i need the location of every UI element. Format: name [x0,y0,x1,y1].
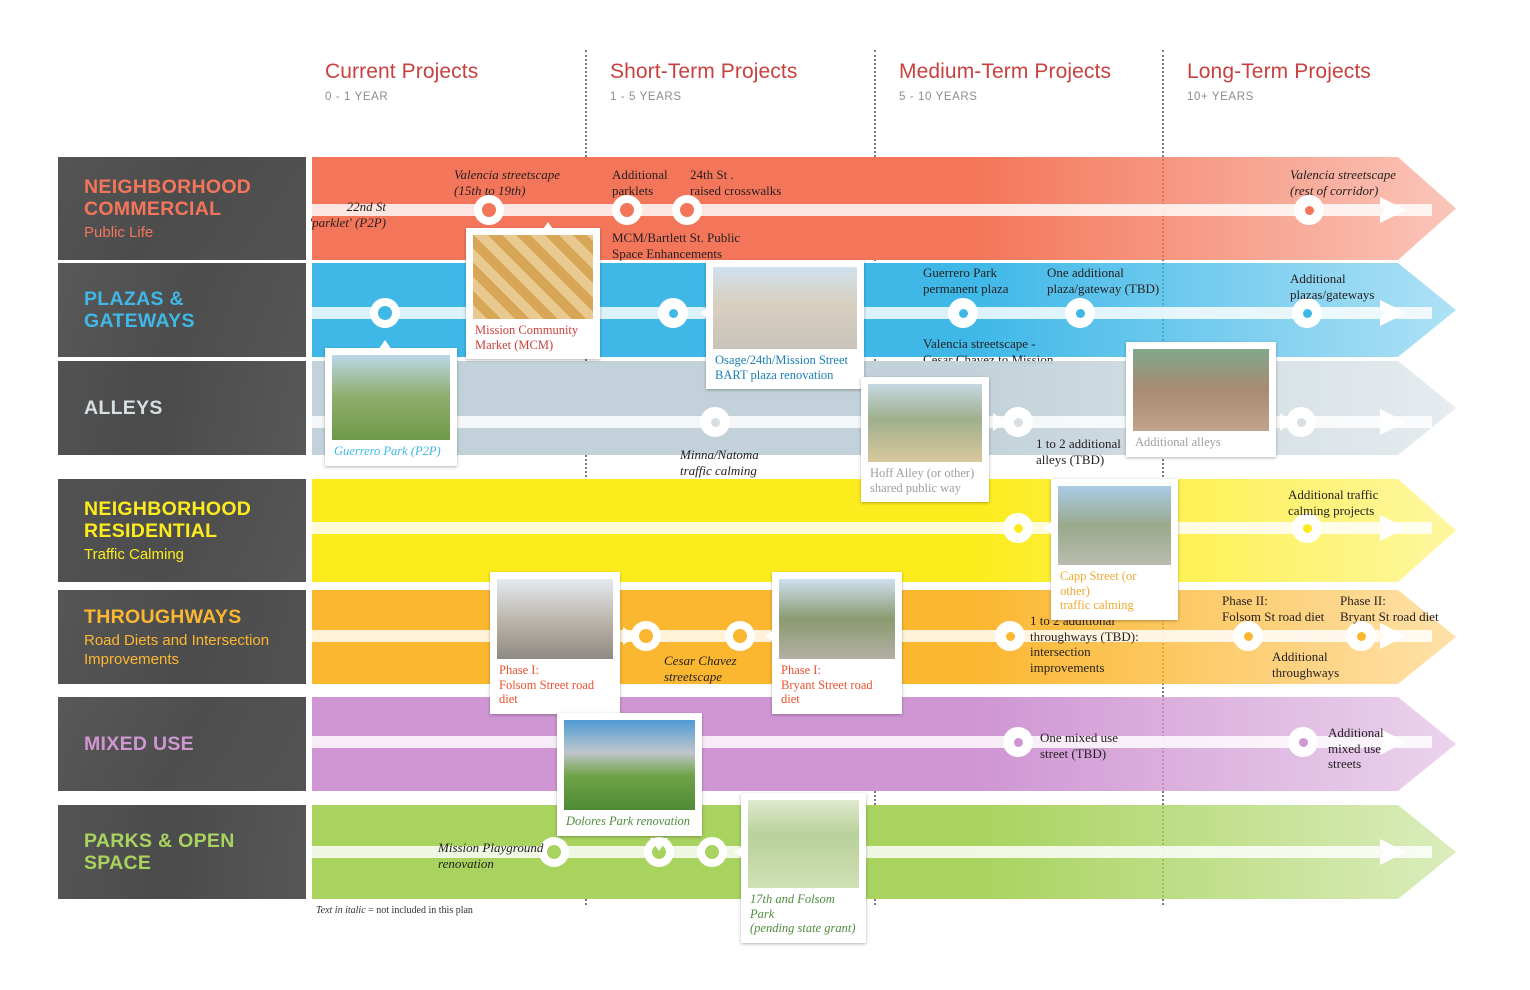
node-hole [733,629,747,643]
node-core [1076,309,1085,318]
timeline-node[interactable] [612,195,642,225]
callout-tail [700,304,713,322]
category-subtitle: Public Life [84,223,298,242]
callout-caption: Capp Street (or other) traffic calming [1058,565,1171,616]
column-header-3: Medium-Term Projects5 - 10 YEARS [899,60,1111,103]
callout-caption: Guerrero Park (P2P) [332,440,450,462]
callout-tail [734,843,747,861]
timeline-node[interactable] [1288,727,1318,757]
column-subtitle: 5 - 10 YEARS [899,91,1111,103]
callout-tail [376,340,394,353]
band-label: Minna/Natoma traffic calming [680,447,820,478]
band-label: MCM/Bartlett St. Public Space Enhancemen… [612,230,802,261]
category-card-neighborhood-residential: NEIGHBORHOOD RESIDENTIALTraffic Calming [58,479,306,582]
timeline-node[interactable] [672,195,702,225]
timeline-node[interactable] [1346,621,1376,651]
callout-tail [993,413,1006,431]
timeline-node[interactable] [1292,298,1322,328]
category-card-alleys: ALLEYS [58,361,306,455]
footnote-text: = not included in this plan [366,905,473,916]
category-text: PLAZAS & GATEWAYS [84,288,298,332]
category-name: NEIGHBORHOOD RESIDENTIAL [84,498,298,542]
node-core [1014,418,1023,427]
callout-card-guerrero-park[interactable]: Guerrero Park (P2P) [325,348,457,466]
band-label: Additional throughways [1272,649,1392,680]
callout-photo [779,579,895,659]
band-label: Additional mixed use streets [1328,725,1438,772]
category-text: NEIGHBORHOOD COMMERCIALPublic Life [84,176,298,242]
callout-photo [868,384,982,462]
callout-tail [623,627,636,645]
category-subtitle: Road Diets and Intersection Improvements [84,631,298,669]
category-text: NEIGHBORHOOD RESIDENTIALTraffic Calming [84,498,298,564]
node-core [1297,418,1306,427]
column-header-1: Current Projects0 - 1 YEAR [325,60,478,103]
footnote: Text in italic = not included in this pl… [316,905,473,916]
callout-card-additional-alleys[interactable]: Additional alleys [1126,342,1276,457]
callout-photo [564,720,695,810]
callout-photo [713,267,857,349]
column-header-4: Long-Term Projects10+ YEARS [1187,60,1371,103]
callout-caption: Mission Community Market (MCM) [473,319,593,355]
node-hole [482,203,496,217]
category-card-plazas-gateways: PLAZAS & GATEWAYS [58,263,306,357]
callout-caption: 17th and Folsom Park (pending state gran… [748,888,859,939]
category-text: PARKS & OPEN SPACE [84,830,298,874]
node-core [711,418,720,427]
category-card-mixed-use: MIXED USE [58,697,306,791]
category-name: NEIGHBORHOOD COMMERCIAL [84,176,298,220]
footnote-emphasis: Text in italic [316,905,366,916]
callout-caption: Osage/24th/Mission Street BART plaza ren… [713,349,857,385]
callout-card-17th-folsom-park[interactable]: 17th and Folsom Park (pending state gran… [741,793,866,943]
node-hole [620,203,634,217]
category-name: MIXED USE [84,733,298,755]
band-label: Additional plazas/gateways [1290,271,1430,302]
node-core [1357,632,1366,641]
band-label: Cesar Chavez streetscape [664,653,784,684]
category-card-parks-open-space: PARKS & OPEN SPACE [58,805,306,899]
node-core [1006,632,1015,641]
node-core [1305,206,1314,215]
category-name: PARKS & OPEN SPACE [84,830,298,874]
callout-card-hoff-alley[interactable]: Hoff Alley (or other) shared public way [861,377,989,502]
callout-card-osage-bart-plaza[interactable]: Osage/24th/Mission Street BART plaza ren… [706,260,864,389]
callout-caption: Additional alleys [1133,431,1269,453]
callout-card-dolores-park[interactable]: Dolores Park renovation [557,713,702,836]
node-hole [705,845,719,859]
category-name: THROUGHWAYS [84,606,298,628]
timeline-node[interactable] [370,298,400,328]
band-label: Mission Playground renovation [438,840,598,871]
callout-tail [650,838,668,851]
category-subtitle: Traffic Calming [84,545,298,564]
node-core [1299,738,1308,747]
node-hole [680,203,694,217]
category-name: PLAZAS & GATEWAYS [84,288,298,332]
timeline-node[interactable] [725,621,755,651]
timeline-node[interactable] [995,621,1025,651]
node-hole [378,306,392,320]
band-label: 22nd St 'parklet' (P2P) [286,199,386,230]
timeline-infographic: Current Projects0 - 1 YEARShort-Term Pro… [0,0,1530,990]
column-subtitle: 10+ YEARS [1187,91,1371,103]
category-text: ALLEYS [84,397,298,419]
callout-tail [539,222,557,235]
column-title: Short-Term Projects [610,60,797,84]
timeline-node[interactable] [1003,407,1033,437]
node-hole [639,629,653,643]
node-core [669,309,678,318]
column-title: Medium-Term Projects [899,60,1111,84]
callout-card-bryant-phase-1[interactable]: Phase I: Bryant Street road diet [772,572,902,714]
node-core [1014,524,1023,533]
callout-caption: Hoff Alley (or other) shared public way [868,462,982,498]
category-card-throughways: THROUGHWAYSRoad Diets and Intersection I… [58,590,306,684]
timeline-node[interactable] [658,298,688,328]
band-label: Phase II: Bryant St road diet [1340,593,1490,624]
node-core [1303,309,1312,318]
callout-photo [332,355,450,440]
column-title: Long-Term Projects [1187,60,1371,84]
callout-tail [765,627,778,645]
column-header-2: Short-Term Projects1 - 5 YEARS [610,60,797,103]
band-label: One additional plaza/gateway (TBD) [1047,265,1217,296]
callout-photo [473,235,593,319]
timeline-node[interactable] [1003,513,1033,543]
callout-photo [1133,349,1269,431]
column-subtitle: 0 - 1 YEAR [325,91,478,103]
callout-card-mission-community-market[interactable]: Mission Community Market (MCM) [466,228,600,359]
band-label: 24th St . raised crosswalks [690,167,830,198]
callout-card-folsom-phase-1[interactable]: Phase I: Folsom Street road diet [490,572,620,714]
timeline-node[interactable] [1233,621,1263,651]
timeline-node[interactable] [1294,195,1324,225]
node-core [1244,632,1253,641]
callout-caption: Phase I: Folsom Street road diet [497,659,613,710]
callout-photo [748,800,859,888]
node-core [1014,738,1023,747]
callout-caption: Dolores Park renovation [564,810,695,832]
band-label: Valencia streetscape (rest of corridor) [1290,167,1460,198]
category-text: THROUGHWAYSRoad Diets and Intersection I… [84,606,298,669]
node-core [959,309,968,318]
callout-caption: Phase I: Bryant Street road diet [779,659,895,710]
callout-photo [1058,486,1171,565]
band-label: 1 to 2 additional throughways (TBD): int… [1030,613,1180,675]
band-label: Additional parklets [612,167,692,198]
callout-photo [497,579,613,659]
timeline-node[interactable] [474,195,504,225]
column-subtitle: 1 - 5 YEARS [610,91,797,103]
timeline-node[interactable] [700,407,730,437]
timeline-node[interactable] [697,837,727,867]
node-core [1303,524,1312,533]
callout-tail [1280,413,1293,431]
timeline-node[interactable] [948,298,978,328]
callout-tail [1043,519,1056,537]
band-label: One mixed use street (TBD) [1040,730,1170,761]
timeline-node[interactable] [1003,727,1033,757]
callout-card-capp-street[interactable]: Capp Street (or other) traffic calming [1051,479,1178,620]
category-text: MIXED USE [84,733,298,755]
category-card-neighborhood-commercial: NEIGHBORHOOD COMMERCIALPublic Life [58,157,306,260]
band-label: Additional traffic calming projects [1288,487,1438,518]
category-name: ALLEYS [84,397,298,419]
column-title: Current Projects [325,60,478,84]
timeline-node[interactable] [1065,298,1095,328]
